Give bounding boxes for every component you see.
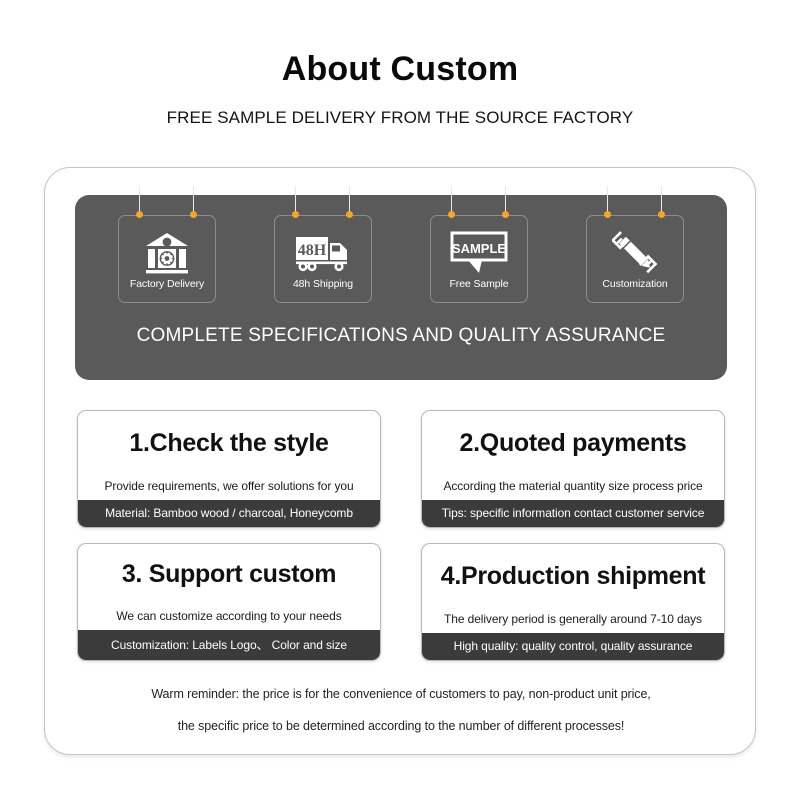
warm-reminder-line-1: Warm reminder: the price is for the conv… bbox=[45, 678, 757, 710]
warm-reminder-line-2: the specific price to be determined acco… bbox=[45, 710, 757, 742]
hanger-dot-left-icon bbox=[292, 211, 299, 218]
step-card-description: The delivery period is generally around … bbox=[422, 612, 724, 633]
badge-label: Free Sample bbox=[449, 278, 508, 290]
step-card-title: 1.Check the style bbox=[78, 411, 380, 479]
badge-card: SAMPLE Free Sample bbox=[430, 215, 528, 303]
badge-card: Factory Delivery bbox=[118, 215, 216, 303]
step-card-title: 4.Production shipment bbox=[422, 544, 724, 612]
step-card-strip: Tips: specific information contact custo… bbox=[422, 500, 724, 527]
svg-text:48H: 48H bbox=[298, 242, 327, 259]
hanger-dot-right-icon bbox=[346, 211, 353, 218]
badge-row: Factory Delivery 48H bbox=[75, 195, 727, 323]
hanger-dot-right-icon bbox=[502, 211, 509, 218]
hero-panel: Factory Delivery 48H bbox=[75, 195, 727, 380]
step-card-1[interactable]: 1.Check the style Provide requirements, … bbox=[77, 410, 381, 528]
badge-label: Factory Delivery bbox=[130, 278, 204, 290]
step-card-strip: Customization: Labels Logo、 Color and si… bbox=[78, 630, 380, 660]
step-card-2[interactable]: 2.Quoted payments According the material… bbox=[421, 410, 725, 528]
badge-label: 48h Shipping bbox=[293, 278, 353, 290]
hanger-dot-left-icon bbox=[604, 211, 611, 218]
badge-factory-delivery[interactable]: Factory Delivery bbox=[118, 195, 216, 303]
badge-48h-shipping[interactable]: 48H bbox=[274, 195, 372, 303]
hanger-dot-left-icon bbox=[448, 211, 455, 218]
badge-customization[interactable]: Customization bbox=[586, 195, 684, 303]
badge-free-sample[interactable]: SAMPLE Free Sample bbox=[430, 195, 528, 303]
step-card-grid: 1.Check the style Provide requirements, … bbox=[77, 410, 725, 676]
badge-card: 48H bbox=[274, 215, 372, 303]
step-card-description: According the material quantity size pro… bbox=[422, 479, 724, 500]
step-card-strip: High quality: quality control, quality a… bbox=[422, 633, 724, 660]
warm-reminder-note: Warm reminder: the price is for the conv… bbox=[45, 678, 757, 742]
sample-speech-bubble-icon: SAMPLE bbox=[450, 230, 508, 276]
step-card-title: 2.Quoted payments bbox=[422, 411, 724, 479]
step-card-description: We can customize according to your needs bbox=[78, 609, 380, 630]
content-frame: Factory Delivery 48H bbox=[44, 167, 756, 755]
step-card-strip: Material: Bamboo wood / charcoal, Honeyc… bbox=[78, 500, 380, 527]
delivery-truck-48h-icon: 48H bbox=[295, 230, 351, 276]
hero-banner-text: COMPLETE SPECIFICATIONS AND QUALITY ASSU… bbox=[75, 325, 727, 347]
page-title: About Custom bbox=[0, 52, 800, 86]
page-subtitle: FREE SAMPLE DELIVERY FROM THE SOURCE FAC… bbox=[0, 108, 800, 128]
svg-text:SAMPLE: SAMPLE bbox=[452, 241, 507, 256]
badge-card: Customization bbox=[586, 215, 684, 303]
step-card-3[interactable]: 3. Support custom We can customize accor… bbox=[77, 543, 381, 661]
hanger-dot-right-icon bbox=[658, 211, 665, 218]
page-header: About Custom FREE SAMPLE DELIVERY FROM T… bbox=[0, 0, 800, 128]
step-card-title: 3. Support custom bbox=[78, 544, 380, 609]
factory-building-icon bbox=[144, 230, 190, 276]
hanger-dot-right-icon bbox=[190, 211, 197, 218]
pencil-measure-icon bbox=[612, 230, 658, 276]
about-custom-page: About Custom FREE SAMPLE DELIVERY FROM T… bbox=[0, 0, 800, 800]
step-card-description: Provide requirements, we offer solutions… bbox=[78, 479, 380, 500]
step-card-4[interactable]: 4.Production shipment The delivery perio… bbox=[421, 543, 725, 661]
badge-label: Customization bbox=[602, 278, 667, 290]
hanger-dot-left-icon bbox=[136, 211, 143, 218]
